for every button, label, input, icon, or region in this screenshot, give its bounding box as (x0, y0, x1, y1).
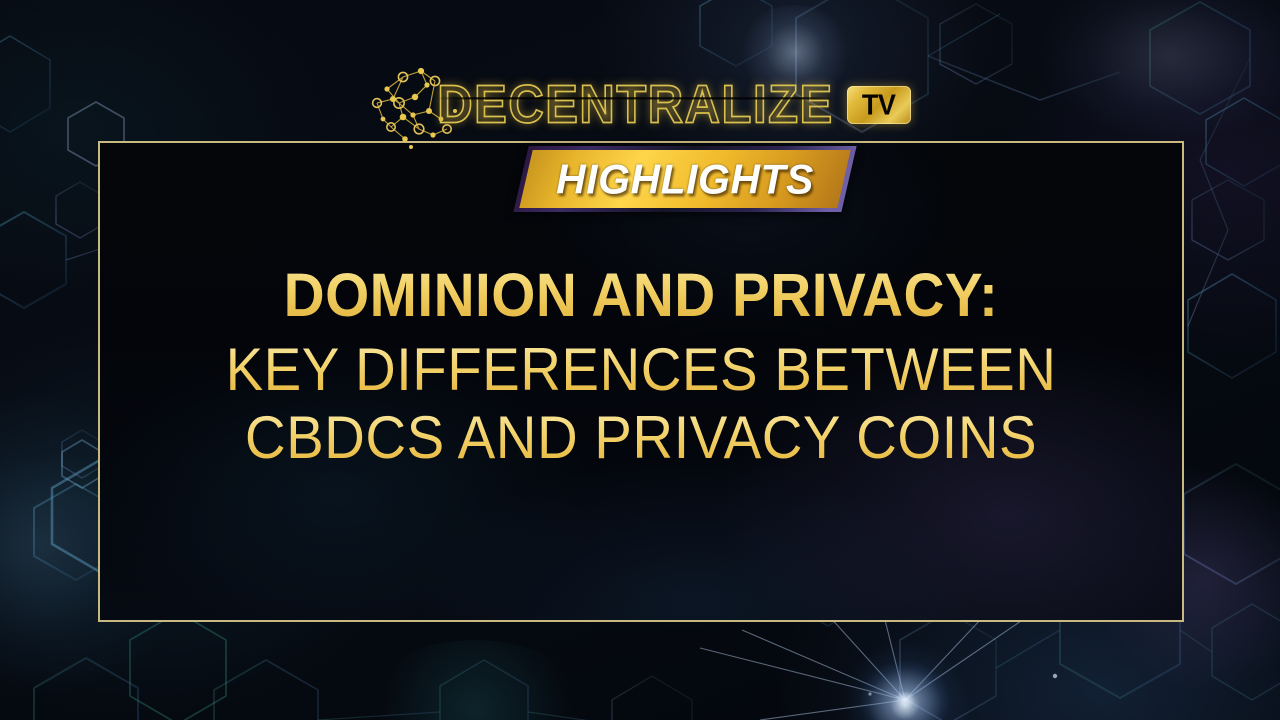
brand-logo-lockup: DECENTRALIZE TV (0, 62, 1280, 148)
highlights-banner-label: HIGHLIGHTS (521, 145, 849, 212)
highlights-banner: HIGHLIGHTS (521, 146, 849, 212)
tv-badge: TV (847, 86, 911, 124)
brand-wordmark: DECENTRALIZE (437, 78, 835, 132)
tv-badge-label: TV (862, 89, 896, 122)
title-line-1: DOMINION AND PRIVACY: (136, 262, 1146, 328)
title-line-3: CBDCS AND PRIVACY COINS (131, 404, 1152, 471)
title-line-2: KEY DIFFERENCES BETWEEN (131, 336, 1152, 403)
episode-title: DOMINION AND PRIVACY: KEY DIFFERENCES BE… (98, 262, 1184, 471)
